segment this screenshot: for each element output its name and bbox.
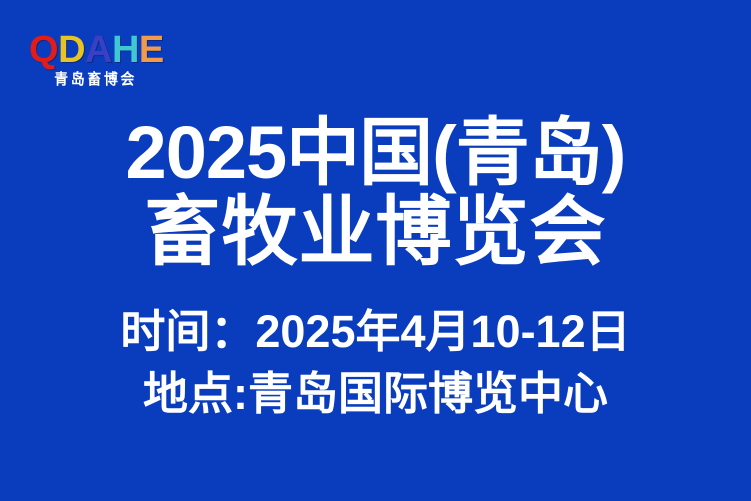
logo-letter-h: H bbox=[112, 31, 139, 69]
info-block: 时间：2025年4月10-12日 地点:青岛国际博览中心 bbox=[0, 301, 751, 425]
title-line-1: 2025中国(青岛) bbox=[0, 113, 751, 193]
event-date-line: 时间：2025年4月10-12日 bbox=[0, 301, 751, 363]
logo-block: QDAHE 青岛畜博会 bbox=[29, 31, 171, 89]
title-line-2: 畜牧业博览会 bbox=[0, 193, 751, 273]
logo-letter-q: Q bbox=[29, 31, 58, 69]
exhibition-poster: QDAHE 青岛畜博会 2025中国(青岛) 畜牧业博览会 时间：2025年4月… bbox=[0, 0, 751, 501]
headline-block: 2025中国(青岛) 畜牧业博览会 bbox=[0, 113, 751, 273]
event-venue-line: 地点:青岛国际博览中心 bbox=[0, 363, 751, 425]
qdahe-wordmark: QDAHE bbox=[29, 31, 171, 69]
logo-subtitle: 青岛畜博会 bbox=[29, 71, 160, 89]
logo-letter-d: D bbox=[58, 31, 85, 69]
logo-letter-e: E bbox=[139, 31, 164, 69]
logo-letter-a: A bbox=[85, 31, 112, 69]
